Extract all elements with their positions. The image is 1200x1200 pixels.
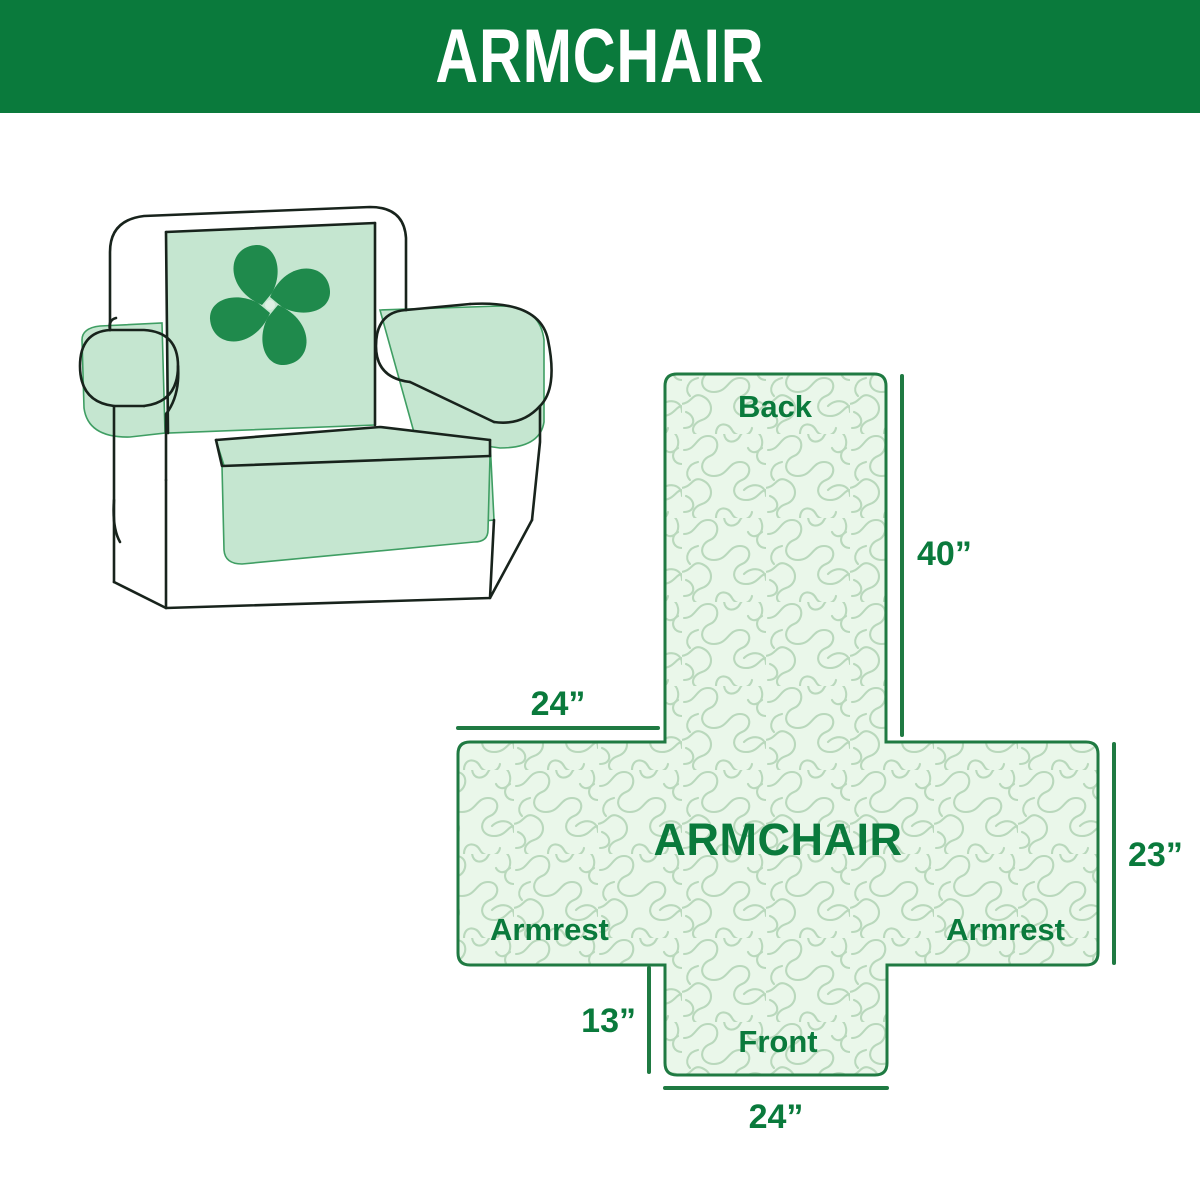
header-banner: ARMCHAIR [0, 0, 1200, 113]
dimension-back-width: 24” [458, 685, 658, 728]
panel-label-armrest-right: Armrest [946, 912, 1065, 947]
dimension-front-width: 24” [665, 1088, 887, 1136]
dimension-back-height-value: 40” [917, 535, 972, 573]
dimension-back-height: 40” [902, 376, 972, 735]
dimension-front-height-value: 13” [581, 1002, 636, 1040]
slipcover-pattern-diagram: Back ARMCHAIR Armrest Armrest Front 40” … [430, 350, 1190, 1140]
product-label: ARMCHAIR [654, 814, 903, 865]
infographic-page: ARMCHAIR [0, 0, 1200, 1200]
dimension-arm-depth-value: 23” [1128, 836, 1183, 874]
panel-label-armrest-left: Armrest [490, 912, 609, 947]
dimension-arm-depth: 23” [1114, 744, 1183, 963]
panel-label-back: Back [738, 389, 813, 424]
panel-label-front: Front [738, 1024, 817, 1059]
cover-armrest-left [82, 323, 165, 437]
pattern-cross-shape [458, 374, 1098, 1075]
dimension-back-width-value: 24” [531, 685, 586, 723]
dimension-front-height: 13” [581, 968, 649, 1072]
page-title: ARMCHAIR [436, 19, 765, 95]
dimension-front-width-value: 24” [749, 1098, 804, 1136]
